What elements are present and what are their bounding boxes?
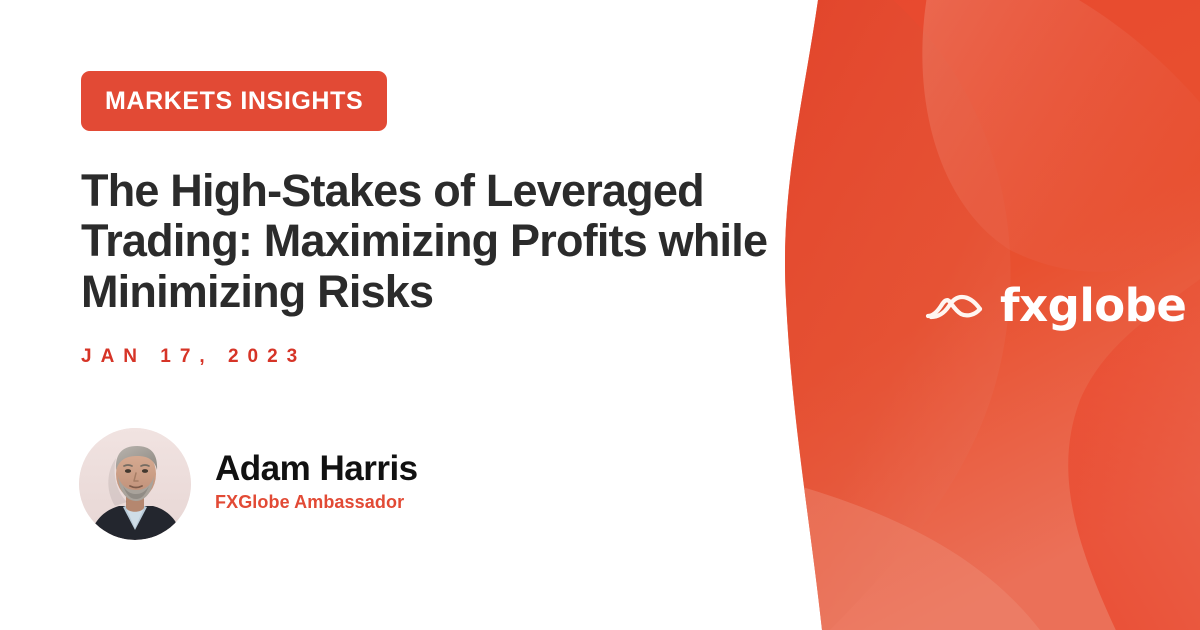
category-badge[interactable]: MARKETS INSIGHTS: [81, 71, 387, 131]
author-block: Adam Harris FXGlobe Ambassador: [79, 428, 418, 540]
author-text: Adam Harris FXGlobe Ambassador: [215, 451, 418, 517]
fxglobe-logo[interactable]: fxglobe: [925, 283, 1186, 328]
publish-date: JAN 17, 2023: [81, 347, 306, 366]
author-role: FXGlobe Ambassador: [215, 493, 418, 513]
fxglobe-wordmark: fxglobe: [1000, 283, 1186, 328]
fxglobe-mountain-mark-icon: [925, 288, 983, 324]
article-promo-card: fxglobe MARKETS INSIGHTS The High-Stakes…: [0, 0, 1200, 630]
avatar: [79, 428, 191, 540]
content-column: MARKETS INSIGHTS The High-Stakes of Leve…: [0, 0, 800, 630]
author-name: Adam Harris: [215, 451, 418, 488]
author-portrait-image: [79, 428, 191, 540]
page-title: The High-Stakes of Leveraged Trading: Ma…: [81, 166, 811, 317]
